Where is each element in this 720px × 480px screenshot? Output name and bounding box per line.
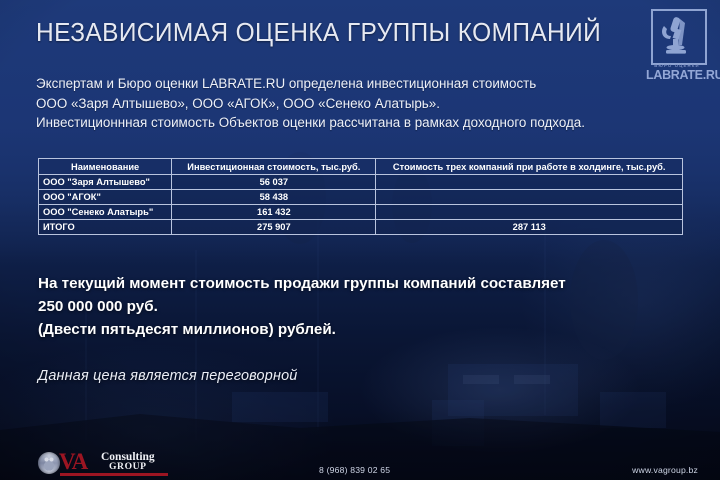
cell-holding-value [376,175,683,190]
background-industrial-silhouettes [0,0,720,480]
intro-line-1: Экспертам и Бюро оценки LABRATE.RU опред… [36,74,696,94]
footer-website[interactable]: www.vagroup.bz [632,465,698,475]
negotiable-price-note: Данная цена является переговорной [38,368,297,384]
cell-investment-value: 58 438 [172,190,376,205]
intro-line-3: Инвестиционнная стоимость Объектов оценк… [36,113,696,133]
highlight-line-3: (Двести пятьдесят миллионов) рублей. [38,318,698,341]
table-row: ООО "Сенеко Алатырь" 161 432 [39,205,683,220]
table-total-row: ИТОГО 275 907 287 113 [39,220,683,235]
labrate-logo: БЮРО ОЦЕНКИ LABRATE.RU [646,9,708,81]
table-header-holding: Стоимость трех компаний при работе в хол… [376,159,683,175]
cell-total-holding: 287 113 [376,220,683,235]
lion-head-emblem-icon [38,452,60,474]
cell-company-name: ООО "АГОК" [39,190,172,205]
highlight-line-1: На текущий момент стоимость продажи груп… [38,272,698,295]
table-row: ООО "Заря Алтышево" 56 037 [39,175,683,190]
cell-company-name: ООО "Заря Алтышево" [39,175,172,190]
intro-paragraph: Экспертам и Бюро оценки LABRATE.RU опред… [36,74,696,133]
cell-holding-value [376,190,683,205]
va-consulting-group-logo: VA Consulting GROUP [38,450,168,476]
footer-phone: 8 (968) 839 02 65 [319,465,390,475]
cell-total-investment: 275 907 [172,220,376,235]
microscope-icon [646,9,708,63]
logo-group-text: GROUP [109,462,147,472]
cell-investment-value: 56 037 [172,175,376,190]
highlight-statement: На текущий момент стоимость продажи груп… [38,272,698,341]
page-title: НЕЗАВИСИМАЯ ОЦЕНКА ГРУППЫ КОМПАНИЙ [36,19,601,48]
valuation-table: Наименование Инвестиционная стоимость, т… [38,158,683,235]
table-header-name: Наименование [39,159,172,175]
intro-line-2: ООО «Заря Алтышево», ООО «АГОК», ООО «Се… [36,94,696,114]
cell-company-name: ООО "Сенеко Алатырь" [39,205,172,220]
table-header-row: Наименование Инвестиционная стоимость, т… [39,159,683,175]
logo-initials: VA [59,450,87,474]
cell-total-label: ИТОГО [39,220,172,235]
table-header-value: Инвестиционная стоимость, тыс.руб. [172,159,376,175]
cell-holding-value [376,205,683,220]
presentation-slide: НЕЗАВИСИМАЯ ОЦЕНКА ГРУППЫ КОМПАНИЙ БЮРО … [0,0,720,480]
highlight-line-2: 250 000 000 руб. [38,295,698,318]
table-row: ООО "АГОК" 58 438 [39,190,683,205]
cell-investment-value: 161 432 [172,205,376,220]
